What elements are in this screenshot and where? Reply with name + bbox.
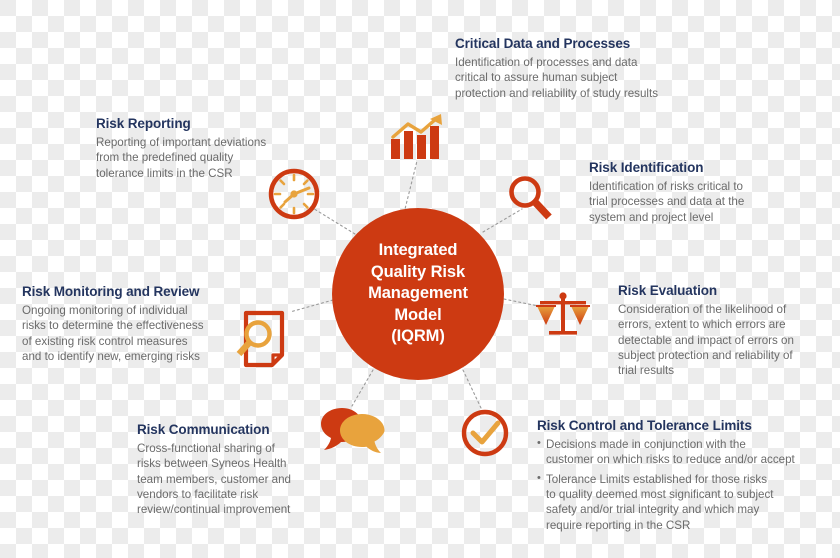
node-heading: Risk Reporting bbox=[96, 116, 301, 132]
connector-to-bubbles-icon bbox=[352, 370, 373, 406]
node-body: Identification of risks critical to tria… bbox=[589, 179, 794, 225]
node-body: Cross-functional sharing of risks betwee… bbox=[137, 441, 322, 517]
node-heading: Risk Control and Tolerance Limits bbox=[537, 418, 827, 434]
connector-to-check-icon bbox=[463, 370, 481, 408]
node-heading: Risk Identification bbox=[589, 160, 794, 176]
bar-chart-growth-icon bbox=[389, 113, 445, 161]
node-critical-data-and-processes: Critical Data and Processes Identificati… bbox=[455, 36, 700, 101]
node-body: Identification of processes and data cri… bbox=[455, 55, 700, 101]
central-hub: Integrated Quality Risk Management Model… bbox=[332, 208, 504, 380]
node-body: Ongoing monitoring of individual risks t… bbox=[22, 303, 234, 364]
balance-scale-icon bbox=[535, 288, 591, 340]
node-heading: Risk Evaluation bbox=[618, 283, 823, 299]
node-heading: Risk Monitoring and Review bbox=[22, 284, 234, 300]
node-heading: Risk Communication bbox=[137, 422, 322, 438]
node-body: Reporting of important deviations from t… bbox=[96, 135, 301, 181]
list-item: Tolerance Limits established for those r… bbox=[537, 472, 827, 533]
node-heading: Critical Data and Processes bbox=[455, 36, 700, 52]
node-risk-control-and-tolerance-limits: Risk Control and Tolerance Limits Decisi… bbox=[537, 418, 827, 537]
connector-to-doc-icon bbox=[290, 300, 333, 312]
node-risk-reporting: Risk Reporting Reporting of important de… bbox=[96, 116, 301, 181]
node-risk-monitoring-and-review: Risk Monitoring and Review Ongoing monit… bbox=[22, 284, 234, 364]
node-risk-evaluation: Risk Evaluation Consideration of the lik… bbox=[618, 283, 823, 379]
magnifying-glass-icon bbox=[506, 174, 554, 222]
node-risk-identification: Risk Identification Identification of ri… bbox=[589, 160, 794, 225]
speech-bubbles-icon bbox=[320, 406, 386, 454]
hub-title: Integrated Quality Risk Management Model… bbox=[360, 240, 476, 347]
check-circle-icon bbox=[460, 408, 510, 458]
node-bullet-list: Decisions made in conjunction with the c… bbox=[537, 437, 827, 533]
connector-to-chart-icon bbox=[404, 161, 417, 213]
node-risk-communication: Risk Communication Cross-functional shar… bbox=[137, 422, 322, 518]
diagram-canvas: Integrated Quality Risk Management Model… bbox=[0, 0, 840, 558]
document-search-icon bbox=[236, 310, 292, 368]
list-item: Decisions made in conjunction with the c… bbox=[537, 437, 827, 468]
node-body: Consideration of the likelihood of error… bbox=[618, 302, 823, 378]
